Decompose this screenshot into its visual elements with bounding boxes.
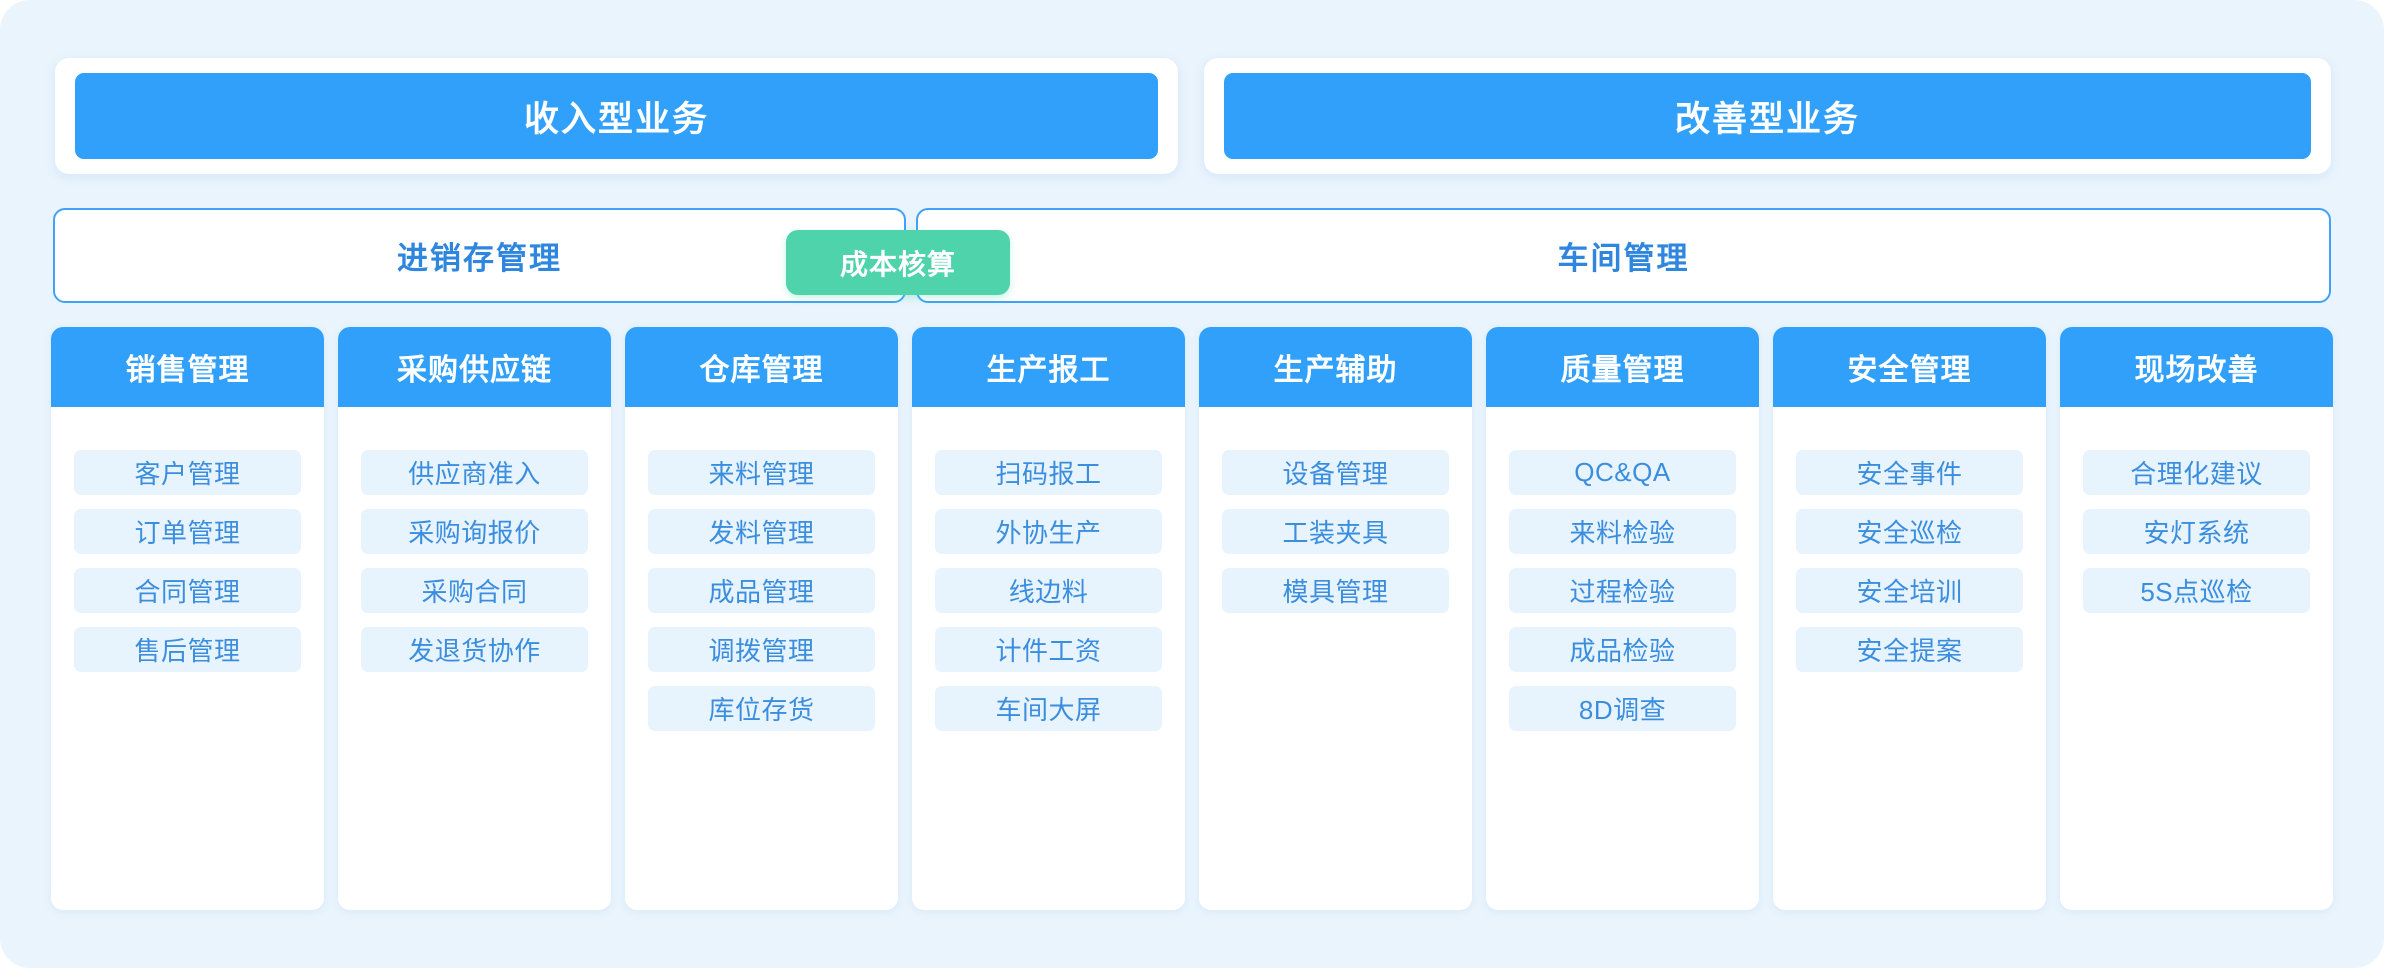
module-item[interactable]: 安全巡检 — [1796, 509, 2023, 554]
module-item[interactable]: 采购询报价 — [361, 509, 588, 554]
module-item-list: 扫码报工 外协生产 线边料 计件工资 车间大屏 — [912, 407, 1185, 910]
top-banner-revenue[interactable]: 收入型业务 — [75, 73, 1158, 159]
module-item[interactable]: 库位存货 — [648, 686, 875, 731]
module-column-title[interactable]: 采购供应链 — [338, 327, 611, 407]
module-column-title[interactable]: 销售管理 — [51, 327, 324, 407]
mid-bar-row: 进销存管理 车间管理 成本核算 — [53, 208, 2331, 303]
module-item[interactable]: 设备管理 — [1222, 450, 1449, 495]
module-item-list: QC&QA 来料检验 过程检验 成品检验 8D调查 — [1486, 407, 1759, 910]
module-item[interactable]: 来料管理 — [648, 450, 875, 495]
module-item[interactable]: 采购合同 — [361, 568, 588, 613]
architecture-diagram-canvas: 收入型业务 改善型业务 进销存管理 车间管理 成本核算 销售管理 客户管理 订单… — [0, 0, 2384, 968]
top-banner-row: 收入型业务 改善型业务 — [55, 58, 2331, 174]
module-column-title[interactable]: 生产报工 — [912, 327, 1185, 407]
module-item[interactable]: 来料检验 — [1509, 509, 1736, 554]
module-item[interactable]: 合同管理 — [74, 568, 301, 613]
module-item[interactable]: 客户管理 — [74, 450, 301, 495]
module-item-list: 供应商准入 采购询报价 采购合同 发退货协作 — [338, 407, 611, 910]
top-banner-card-revenue: 收入型业务 — [55, 58, 1178, 174]
module-column-procurement: 采购供应链 供应商准入 采购询报价 采购合同 发退货协作 — [338, 327, 611, 910]
module-item[interactable]: 售后管理 — [74, 627, 301, 672]
module-column-sales: 销售管理 客户管理 订单管理 合同管理 售后管理 — [51, 327, 324, 910]
module-item[interactable]: 订单管理 — [74, 509, 301, 554]
module-column-production-support: 生产辅助 设备管理 工装夹具 模具管理 — [1199, 327, 1472, 910]
module-column-title[interactable]: 现场改善 — [2060, 327, 2333, 407]
module-item[interactable]: QC&QA — [1509, 450, 1736, 495]
module-item[interactable]: 安全事件 — [1796, 450, 2023, 495]
module-item-list: 安全事件 安全巡检 安全培训 安全提案 — [1773, 407, 2046, 910]
module-column-title[interactable]: 生产辅助 — [1199, 327, 1472, 407]
module-item-list: 设备管理 工装夹具 模具管理 — [1199, 407, 1472, 910]
module-item[interactable]: 成品管理 — [648, 568, 875, 613]
module-item-list: 客户管理 订单管理 合同管理 售后管理 — [51, 407, 324, 910]
mid-bar-workshop[interactable]: 车间管理 — [916, 208, 2331, 303]
module-item[interactable]: 5S点巡检 — [2083, 568, 2310, 613]
module-item[interactable]: 安全培训 — [1796, 568, 2023, 613]
module-item[interactable]: 发退货协作 — [361, 627, 588, 672]
module-item[interactable]: 线边料 — [935, 568, 1162, 613]
module-item[interactable]: 8D调查 — [1509, 686, 1736, 731]
module-item[interactable]: 安全提案 — [1796, 627, 2023, 672]
module-item-list: 合理化建议 安灯系统 5S点巡检 — [2060, 407, 2333, 910]
module-column-safety: 安全管理 安全事件 安全巡检 安全培训 安全提案 — [1773, 327, 2046, 910]
module-item[interactable]: 模具管理 — [1222, 568, 1449, 613]
module-item[interactable]: 安灯系统 — [2083, 509, 2310, 554]
module-column-title[interactable]: 仓库管理 — [625, 327, 898, 407]
module-column-quality: 质量管理 QC&QA 来料检验 过程检验 成品检验 8D调查 — [1486, 327, 1759, 910]
module-item[interactable]: 计件工资 — [935, 627, 1162, 672]
module-column-title[interactable]: 安全管理 — [1773, 327, 2046, 407]
module-column-site-improvement: 现场改善 合理化建议 安灯系统 5S点巡检 — [2060, 327, 2333, 910]
top-banner-improvement[interactable]: 改善型业务 — [1224, 73, 2311, 159]
module-item[interactable]: 过程检验 — [1509, 568, 1736, 613]
module-item[interactable]: 成品检验 — [1509, 627, 1736, 672]
module-item[interactable]: 供应商准入 — [361, 450, 588, 495]
module-item[interactable]: 发料管理 — [648, 509, 875, 554]
module-column-title[interactable]: 质量管理 — [1486, 327, 1759, 407]
module-column-row: 销售管理 客户管理 订单管理 合同管理 售后管理 采购供应链 供应商准入 采购询… — [51, 327, 2333, 910]
module-item[interactable]: 工装夹具 — [1222, 509, 1449, 554]
module-item-list: 来料管理 发料管理 成品管理 调拨管理 库位存货 — [625, 407, 898, 910]
top-banner-card-improvement: 改善型业务 — [1204, 58, 2331, 174]
mid-bar-inventory[interactable]: 进销存管理 — [53, 208, 906, 303]
module-item[interactable]: 调拨管理 — [648, 627, 875, 672]
module-item[interactable]: 扫码报工 — [935, 450, 1162, 495]
module-item[interactable]: 车间大屏 — [935, 686, 1162, 731]
module-item[interactable]: 合理化建议 — [2083, 450, 2310, 495]
module-item[interactable]: 外协生产 — [935, 509, 1162, 554]
module-column-warehouse: 仓库管理 来料管理 发料管理 成品管理 调拨管理 库位存货 — [625, 327, 898, 910]
cost-accounting-badge[interactable]: 成本核算 — [786, 230, 1010, 295]
module-column-production-reporting: 生产报工 扫码报工 外协生产 线边料 计件工资 车间大屏 — [912, 327, 1185, 910]
